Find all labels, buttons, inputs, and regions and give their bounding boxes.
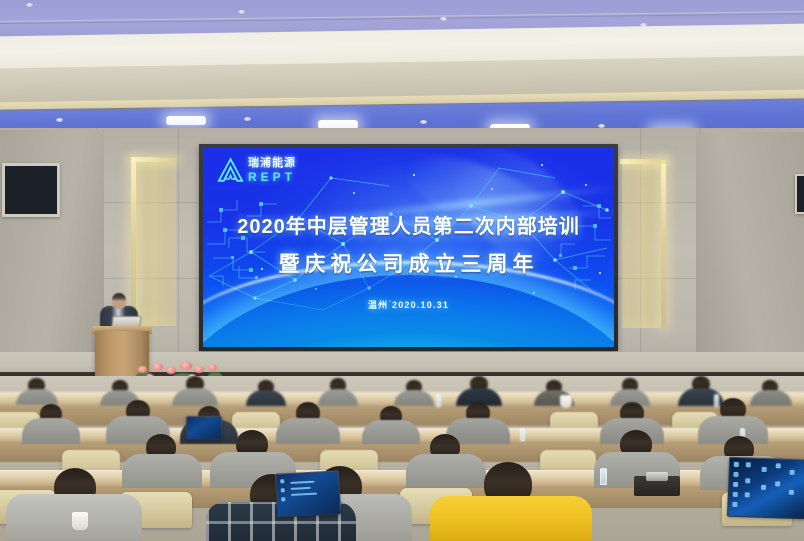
seated-audience xyxy=(0,376,804,541)
wall-alcove-left xyxy=(132,158,176,326)
paper-cup xyxy=(72,512,88,530)
led-presentation-screen[interactable]: 瑞浦能源 REPT 2020年中层管理人员第二次内部培训 暨庆祝公司成立三周年 … xyxy=(203,148,614,347)
rept-triangle-mark-icon xyxy=(217,157,244,183)
water-bottle xyxy=(714,394,719,407)
laptop-screen-windows-desktop xyxy=(728,458,804,519)
ceiling-spotlight-icon xyxy=(238,10,245,14)
attendee-laptop[interactable] xyxy=(275,470,341,517)
logo-english-name: REPT xyxy=(248,171,296,183)
conference-hall-photo: 瑞浦能源 REPT 2020年中层管理人员第二次内部培训 暨庆祝公司成立三周年 … xyxy=(0,0,804,541)
logo-chinese-name: 瑞浦能源 xyxy=(248,158,296,169)
ceiling-spotlight-icon xyxy=(244,117,251,121)
alcove-top-left xyxy=(131,157,177,162)
presentation-title-block: 2020年中层管理人员第二次内部培训 暨庆祝公司成立三周年 xyxy=(203,210,614,278)
attendee-laptop-windows[interactable] xyxy=(727,457,804,520)
ceiling-panel-light xyxy=(166,116,206,125)
presentation-title-line2: 暨庆祝公司成立三周年 xyxy=(203,248,614,278)
paper-cup xyxy=(560,395,572,408)
alcove-edge-right xyxy=(661,160,666,328)
water-bottle xyxy=(600,468,607,485)
desk-front-mid xyxy=(0,442,804,462)
ceiling-spotlight-icon xyxy=(440,17,447,21)
water-bottle xyxy=(436,394,441,407)
wall-display-right xyxy=(795,174,804,214)
av-equipment-lens xyxy=(646,472,668,481)
presenter-head xyxy=(112,293,126,309)
ceiling-spotlight-icon xyxy=(26,3,33,7)
ceiling-spotlight-icon xyxy=(420,120,427,124)
alcove-edge-left xyxy=(131,158,136,326)
ceiling-spotlight-icon xyxy=(56,118,63,122)
wall-alcove-right xyxy=(622,160,666,328)
desk-row-near xyxy=(0,470,804,486)
attendee-laptop[interactable] xyxy=(186,416,222,440)
alcove-top-right xyxy=(620,159,666,164)
presentation-title-line1: 2020年中层管理人员第二次内部培训 xyxy=(203,210,614,239)
rept-logo: 瑞浦能源 REPT xyxy=(217,157,296,183)
wall-display-left xyxy=(2,163,60,217)
right-wall-return xyxy=(696,132,804,380)
presentation-subtitle: 温州 2020.10.31 xyxy=(203,298,614,311)
water-bottle xyxy=(520,428,525,441)
laptop-screen xyxy=(276,471,340,516)
